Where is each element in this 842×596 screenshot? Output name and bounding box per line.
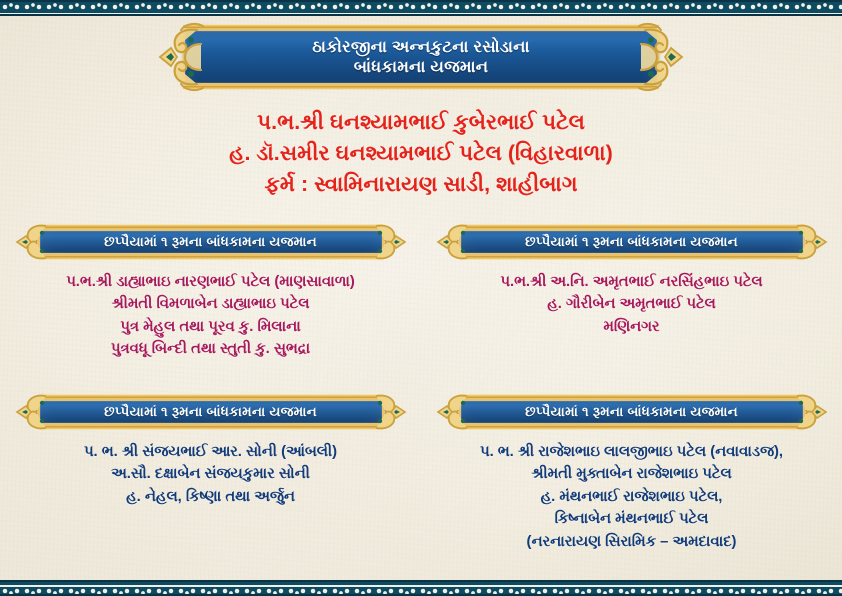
section-banner: છપ્પૈયામાં ૧ રૂમના બાંધકામના યજમાન (38, 398, 384, 426)
headline-line-1: પ.ભ.શ્રી ઘનશ્યામભાઈ કુબેરભાઈ પટેલ (0, 107, 842, 138)
section-body: પ.ભ.શ્રી ડાહ્યાભાઇ નારણભાઈ પટેલ (માણસાવા… (0, 271, 421, 361)
donor-line: અ.સૌ. દક્ષાબેન સંજયકુમાર સોની (14, 463, 407, 485)
bottom-border-band (0, 580, 842, 596)
headline-line-3: ફર્મ : સ્વામિનારાયણ સાડી, શાહીબાગ (0, 169, 842, 200)
section-bottom-right: છપ્પૈયામાં ૧ રૂમના બાંધકામના યજમાન પ. ભ.… (421, 398, 842, 553)
section-banner-label: છપ્પૈયામાં ૧ રૂમના બાંધકામના યજમાન (104, 404, 317, 420)
section-bottom-left: છપ્પૈયામાં ૧ રૂમના બાંધકામના યજમાન પ. ભ.… (0, 398, 421, 508)
section-banner-plaque: છપ્પૈયામાં ૧ રૂમના બાંધકામના યજમાન (38, 228, 384, 256)
section-top-left: છપ્પૈયામાં ૧ રૂમના બાંધકામના યજમાન પ.ભ.શ… (0, 228, 421, 361)
invitation-poster: ઠાકોરજીના અન્નકુટના રસોડાના બાંધકામના યજ… (0, 0, 842, 596)
section-top-right: છપ્પૈયામાં ૧ રૂમના બાંધકામના યજમાન પ.ભ.શ… (421, 228, 842, 338)
section-banner-plaque: છપ્પૈયામાં ૧ રૂમના બાંધકામના યજમાન (38, 398, 384, 426)
headline-line-2: હ. ડૉ.સમીર ઘનશ્યામભાઈ પટેલ (વિહારવાળા) (0, 138, 842, 169)
section-body: પ.ભ.શ્રી અ.નિ. અમૃતભાઈ નરસિંહભાઇ પટેલ હ.… (421, 271, 842, 338)
section-banner: છપ્પૈયામાં ૧ રૂમના બાંધકામના યજમાન (38, 228, 384, 256)
donor-line: હ. મંથનભાઈ રાજેશભાઇ પટેલ, (435, 486, 828, 508)
donor-line: હ. ગૌરીબેન અમૃતભાઈ પટેલ (435, 293, 828, 315)
donor-line: પુત્ર મેહુલ તથા પૂરવ કુ. મિલાના (14, 316, 407, 338)
main-banner-plaque: ઠાકોરજીના અન્નકુટના રસોડાના બાંધકામના યજ… (183, 28, 659, 86)
donor-line: પુત્રવધૂ બિન્દી તથા સ્તુતી કુ. સુભદ્રા (14, 338, 407, 360)
donor-line: મણિનગર (435, 316, 828, 338)
donor-line: હ. નેહલ, કિષ્ણા તથા અર્જુન (14, 486, 407, 508)
section-banner: છપ્પૈયામાં ૧ રૂમના બાંધકામના યજમાન (459, 228, 805, 256)
donor-line: શ્રીમતી મુક્તાબેન રાજેશભાઇ પટેલ (435, 463, 828, 485)
border-motif-pattern (0, 582, 842, 594)
main-banner-line-1: ઠાકોરજીના અન્નકુટના રસોડાના (312, 37, 529, 57)
headline-block: પ.ભ.શ્રી ઘનશ્યામભાઈ કુબેરભાઈ પટેલ હ. ડૉ.… (0, 107, 842, 200)
donor-line: પ. ભ. શ્રી સંજયભાઈ આર. સોની (આંબલી) (14, 441, 407, 463)
section-banner-plaque: છપ્પૈયામાં ૧ રૂમના બાંધકામના યજમાન (459, 228, 805, 256)
donor-line: પ.ભ.શ્રી અ.નિ. અમૃતભાઈ નરસિંહભાઇ પટેલ (435, 271, 828, 293)
main-banner-line-2: બાંધકામના યજમાન (354, 57, 489, 77)
donor-line: (નરનારાયણ સિરામિક – અમદાવાદ) (435, 531, 828, 553)
section-banner: છપ્પૈયામાં ૧ રૂમના બાંધકામના યજમાન (459, 398, 805, 426)
border-motif-pattern (0, 2, 842, 14)
main-title-banner: ઠાકોરજીના અન્નકુટના રસોડાના બાંધકામના યજ… (183, 28, 659, 86)
section-banner-label: છપ્પૈયામાં ૧ રૂમના બાંધકામના યજમાન (525, 404, 738, 420)
section-body: પ. ભ. શ્રી રાજેશભાઇ લાલજીભાઇ પટેલ (નવાવા… (421, 441, 842, 553)
section-body: પ. ભ. શ્રી સંજયભાઈ આર. સોની (આંબલી) અ.સૌ… (0, 441, 421, 508)
section-banner-label: છપ્પૈયામાં ૧ રૂમના બાંધકામના યજમાન (525, 234, 738, 250)
donor-line: શ્રીમતી વિમળાબેન ડાહ્યાભાઇ પટેલ (14, 293, 407, 315)
donor-line: પ. ભ. શ્રી રાજેશભાઇ લાલજીભાઇ પટેલ (નવાવા… (435, 441, 828, 463)
top-border-band (0, 0, 842, 16)
section-banner-label: છપ્પૈયામાં ૧ રૂમના બાંધકામના યજમાન (104, 234, 317, 250)
section-banner-plaque: છપ્પૈયામાં ૧ રૂમના બાંધકામના યજમાન (459, 398, 805, 426)
donor-line: પ.ભ.શ્રી ડાહ્યાભાઇ નારણભાઈ પટેલ (માણસાવા… (14, 271, 407, 293)
donor-line: કિષ્નાબેન મંથનભાઈ પટેલ (435, 508, 828, 530)
